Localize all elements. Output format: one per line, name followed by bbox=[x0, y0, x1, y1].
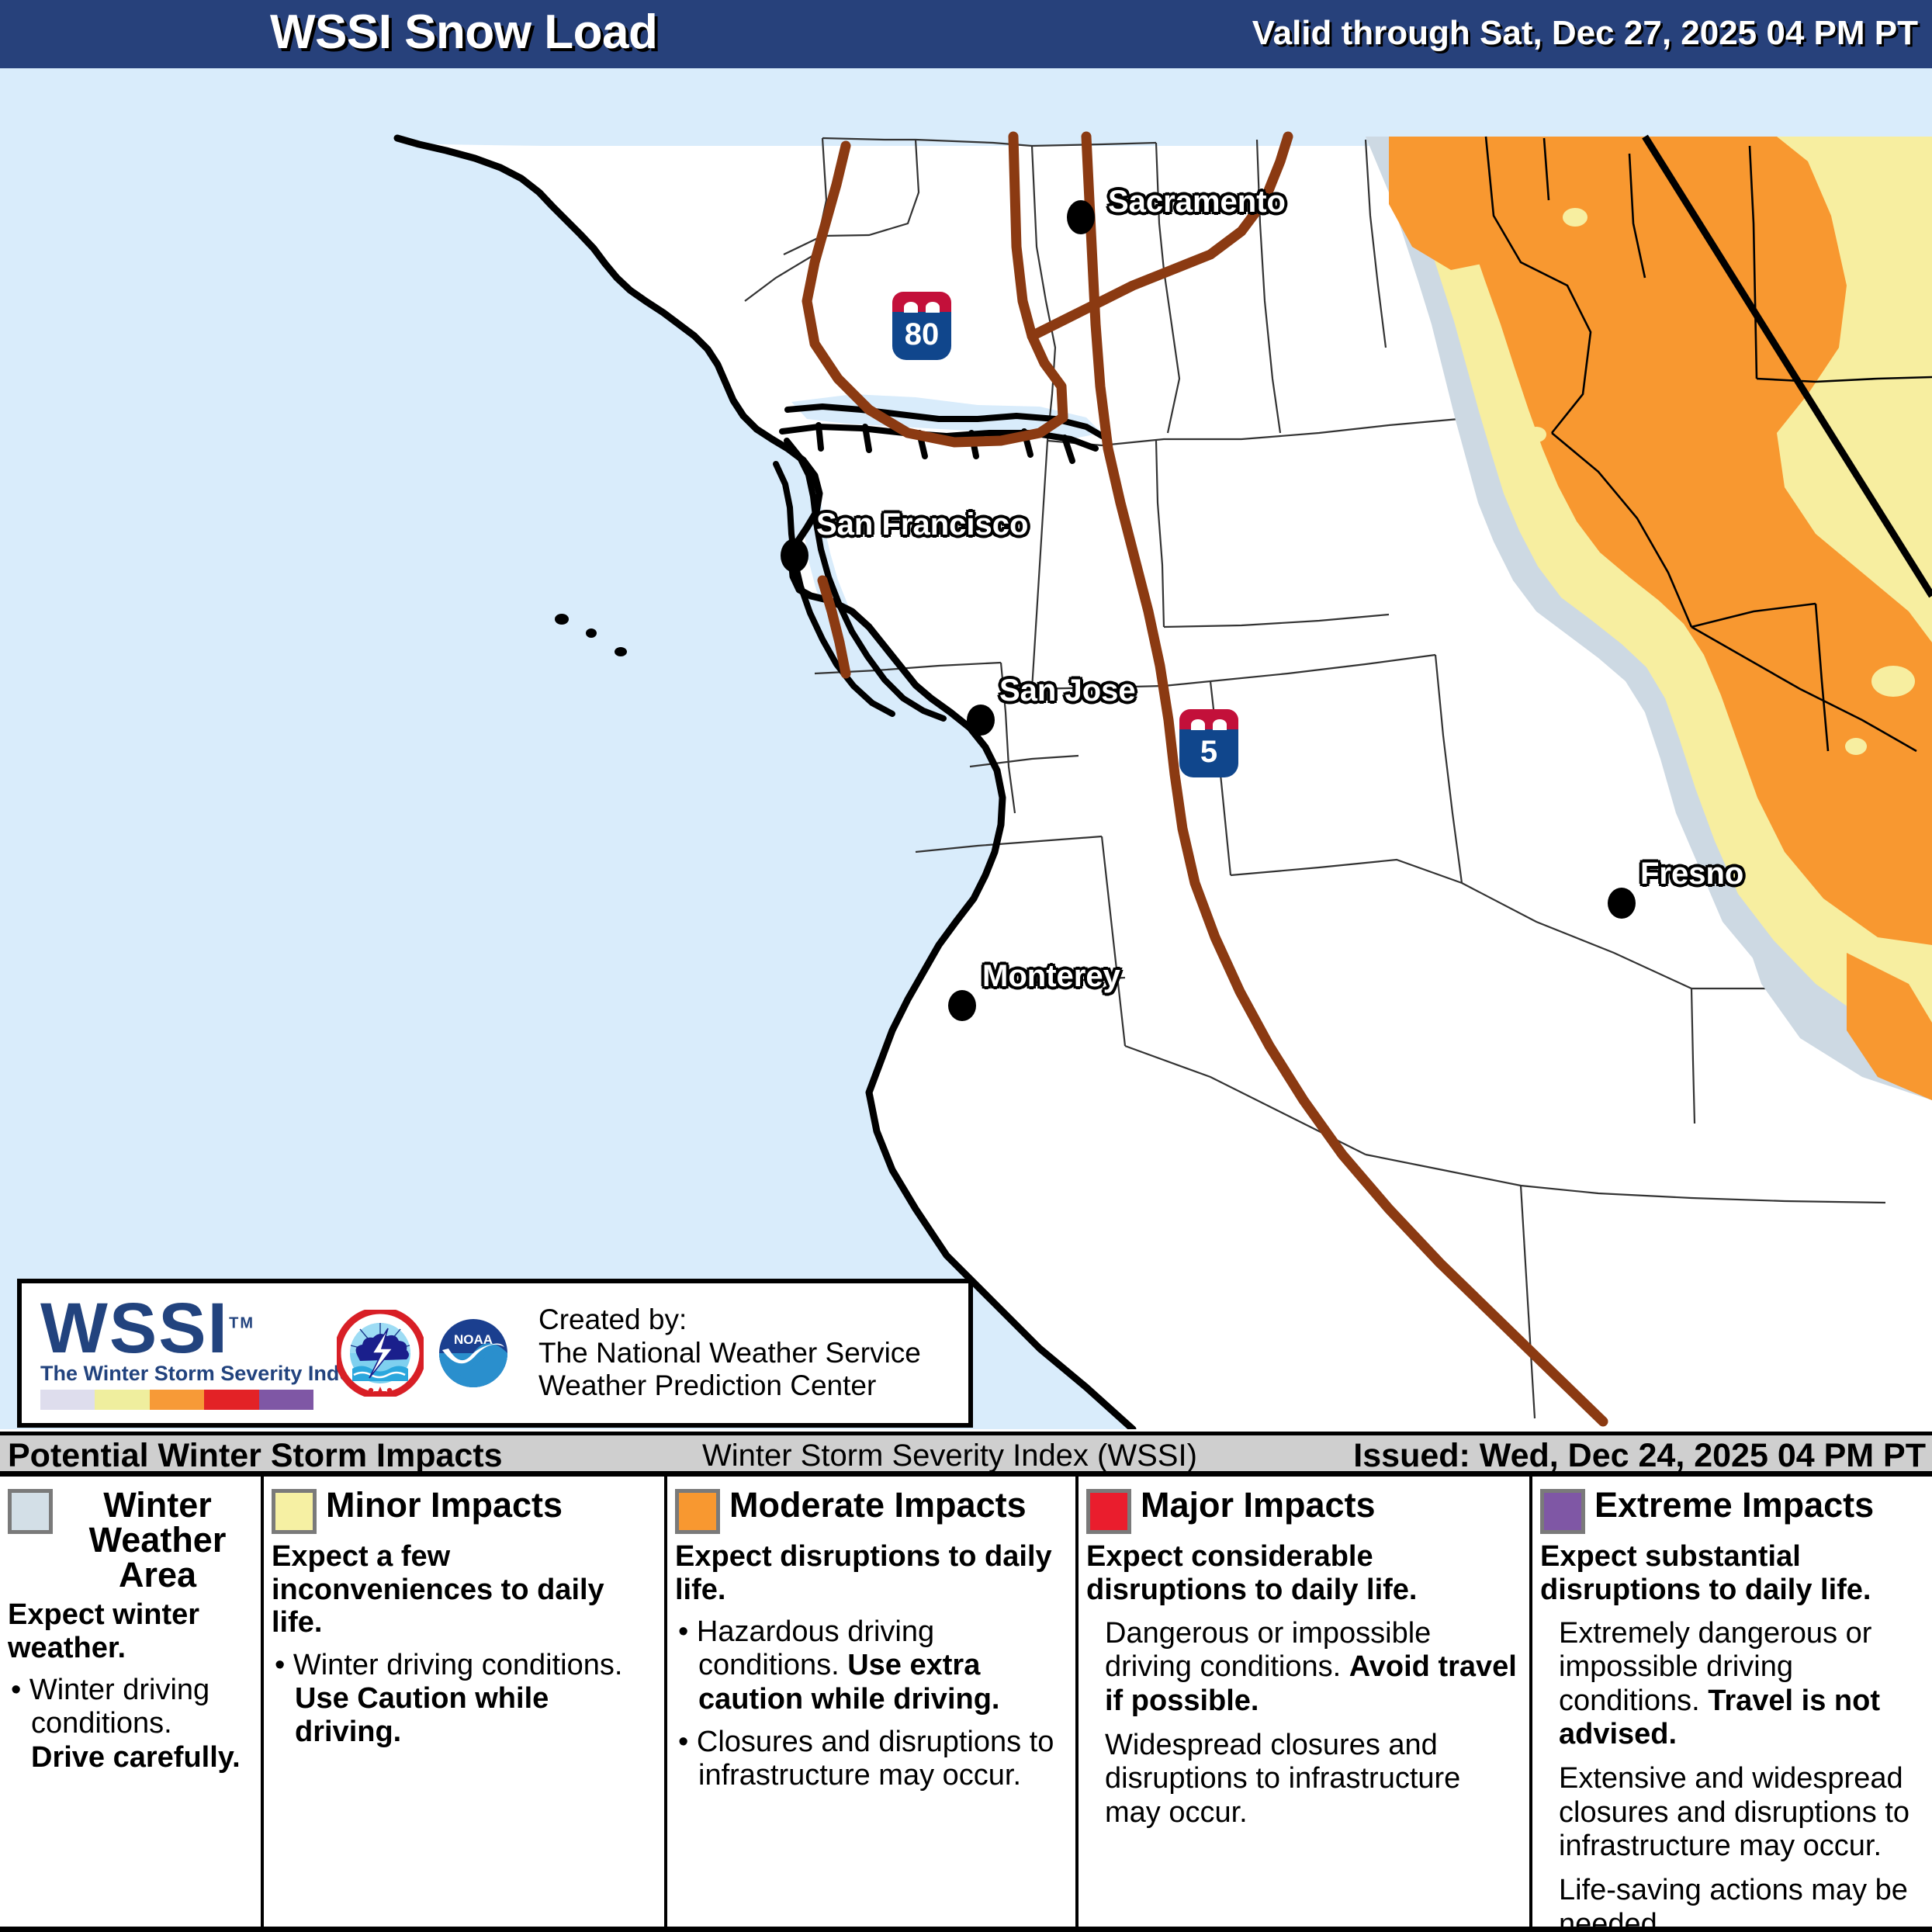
trademark-symbol: TM bbox=[229, 1314, 254, 1331]
legend-header: Minor Impacts bbox=[272, 1487, 656, 1534]
legend-column-extreme-impacts: Extreme Impacts Expect substantial disru… bbox=[1532, 1477, 1932, 1927]
created-by-line-1: Created by: bbox=[538, 1304, 921, 1337]
noaa-logo-svg: NOAA bbox=[430, 1310, 517, 1397]
banner-middle-label: Winter Storm Severity Index (WSSI) bbox=[702, 1439, 1197, 1473]
legend-bullet-text: Winter driving conditions. bbox=[293, 1649, 623, 1681]
legend-swatch-extreme-impacts bbox=[1540, 1489, 1585, 1534]
legend-title-moderate-impacts: Moderate Impacts bbox=[729, 1487, 1068, 1522]
noaa-logo: NOAA bbox=[430, 1310, 517, 1397]
legend-paragraph: Widespread closures and disruptions to i… bbox=[1086, 1729, 1522, 1830]
created-by-line-2: The National Weather Service bbox=[538, 1337, 921, 1370]
nws-logo-svg bbox=[337, 1310, 424, 1397]
swatch-winter-weather bbox=[40, 1390, 95, 1410]
impacts-banner: Potential Winter Storm Impacts Winter St… bbox=[0, 1432, 1932, 1477]
legend-header: Major Impacts bbox=[1086, 1487, 1522, 1534]
wssi-credit-box: WSSITM The Winter Storm Severity Index bbox=[17, 1279, 973, 1428]
legend-paragraph: Dangerous or impossible driving conditio… bbox=[1086, 1617, 1522, 1718]
noaa-wordmark: NOAA bbox=[454, 1332, 493, 1347]
legend-paragraph: Extensive and widespread closures and di… bbox=[1540, 1762, 1924, 1863]
legend-paragraph-text: Widespread closures and disruptions to i… bbox=[1105, 1729, 1460, 1829]
legend-paragraph: Life-saving actions may be needed. bbox=[1540, 1874, 1924, 1932]
legend-header: Moderate Impacts bbox=[675, 1487, 1068, 1534]
map-canvas[interactable]: Sacramento San Francisco San Jose Fresno… bbox=[0, 68, 1932, 1429]
legend-header: Winter Weather Area bbox=[8, 1487, 253, 1592]
legend-column-minor-impacts: Minor Impacts Expect a few inconvenience… bbox=[264, 1477, 667, 1927]
interstate-shield-5: 5 bbox=[1179, 709, 1238, 777]
shield-number-5: 5 bbox=[1179, 729, 1238, 777]
swatch-extreme bbox=[259, 1390, 313, 1410]
wssi-wordmark-text: WSSI bbox=[40, 1289, 229, 1368]
legend-title-minor-impacts: Minor Impacts bbox=[326, 1487, 656, 1522]
shield-crown bbox=[892, 292, 951, 312]
interstate-shield-80: 80 bbox=[892, 292, 951, 360]
legend-column-moderate-impacts: Moderate Impacts Expect disruptions to d… bbox=[667, 1477, 1079, 1927]
city-dot-sacramento bbox=[1067, 200, 1095, 234]
legend-bullet-text: Closures and disruptions to infrastructu… bbox=[697, 1726, 1054, 1792]
legend-title-major-impacts: Major Impacts bbox=[1141, 1487, 1522, 1522]
banner-left-label: Potential Winter Storm Impacts bbox=[8, 1437, 503, 1475]
page-title: WSSI Snow Load bbox=[270, 5, 657, 60]
city-dot-san-jose bbox=[967, 705, 995, 736]
legend-paragraph: Extremely dangerous or impossible drivin… bbox=[1540, 1617, 1924, 1751]
legend-bullet-text: Winter driving conditions. bbox=[29, 1674, 209, 1740]
legend-intro-major-impacts: Expect considerable disruptions to daily… bbox=[1086, 1540, 1522, 1606]
legend-paragraph-text: Life-saving actions may be needed. bbox=[1559, 1874, 1908, 1932]
city-dot-fresno bbox=[1608, 888, 1636, 919]
legend-bullet-emphasis: Drive carefully. bbox=[31, 1741, 241, 1774]
legend-bullet: • Winter driving conditions. Drive caref… bbox=[8, 1674, 253, 1774]
legend-intro-moderate-impacts: Expect disruptions to daily life. bbox=[675, 1540, 1068, 1606]
legend-column-winter-weather-area: Winter Weather Area Expect winter weathe… bbox=[0, 1477, 264, 1927]
legend-bullet: • Winter driving conditions. Use Caution… bbox=[272, 1649, 656, 1750]
swatch-moderate bbox=[150, 1390, 204, 1410]
legend-column-major-impacts: Major Impacts Expect considerable disrup… bbox=[1079, 1477, 1532, 1927]
wssi-color-bar bbox=[40, 1390, 313, 1410]
map-graphics bbox=[0, 68, 1932, 1429]
legend-swatch-moderate-impacts bbox=[675, 1489, 720, 1534]
legend-title-extreme-impacts: Extreme Impacts bbox=[1594, 1487, 1924, 1522]
legend-bullet: • Closures and disruptions to infrastruc… bbox=[675, 1726, 1068, 1793]
shield-number-80: 80 bbox=[892, 312, 951, 360]
shield-crown bbox=[1179, 709, 1238, 729]
city-dot-san-francisco bbox=[781, 538, 808, 573]
legend-header: Extreme Impacts bbox=[1540, 1487, 1924, 1534]
legend-swatch-minor-impacts bbox=[272, 1489, 317, 1534]
legend-title-winter-weather-area: Winter Weather Area bbox=[62, 1487, 253, 1592]
impacts-legend: Winter Weather Area Expect winter weathe… bbox=[0, 1477, 1932, 1932]
valid-through-text: Valid through Sat, Dec 27, 2025 04 PM PT bbox=[1252, 14, 1918, 53]
wssi-snow-load-map-page: WSSI Snow Load Valid through Sat, Dec 27… bbox=[0, 0, 1932, 1932]
created-by-line-3: Weather Prediction Center bbox=[538, 1369, 921, 1403]
wssi-logo: WSSITM The Winter Storm Severity Index bbox=[22, 1297, 332, 1411]
legend-swatch-major-impacts bbox=[1086, 1489, 1131, 1534]
header-bar: WSSI Snow Load Valid through Sat, Dec 27… bbox=[0, 0, 1932, 68]
swatch-major bbox=[204, 1390, 258, 1410]
legend-intro-minor-impacts: Expect a few inconveniences to daily lif… bbox=[272, 1540, 656, 1639]
legend-intro-winter-weather-area: Expect winter weather. bbox=[8, 1598, 253, 1664]
legend-swatch-winter-weather-area bbox=[8, 1489, 53, 1534]
legend-paragraph-text: Extensive and widespread closures and di… bbox=[1559, 1762, 1909, 1862]
city-dot-monterey bbox=[948, 990, 976, 1021]
wssi-wordmark: WSSITM bbox=[40, 1297, 254, 1361]
legend-bullet: • Hazardous driving conditions. Use extr… bbox=[675, 1615, 1068, 1716]
legend-bullet-emphasis: Use Caution while driving. bbox=[295, 1682, 549, 1748]
national-weather-service-logo bbox=[337, 1310, 424, 1397]
swatch-minor bbox=[95, 1390, 149, 1410]
legend-intro-extreme-impacts: Expect substantial disruptions to daily … bbox=[1540, 1540, 1924, 1606]
created-by-block: Created by: The National Weather Service… bbox=[538, 1304, 921, 1404]
banner-issued-label: Issued: Wed, Dec 24, 2025 04 PM PT bbox=[1353, 1437, 1926, 1475]
